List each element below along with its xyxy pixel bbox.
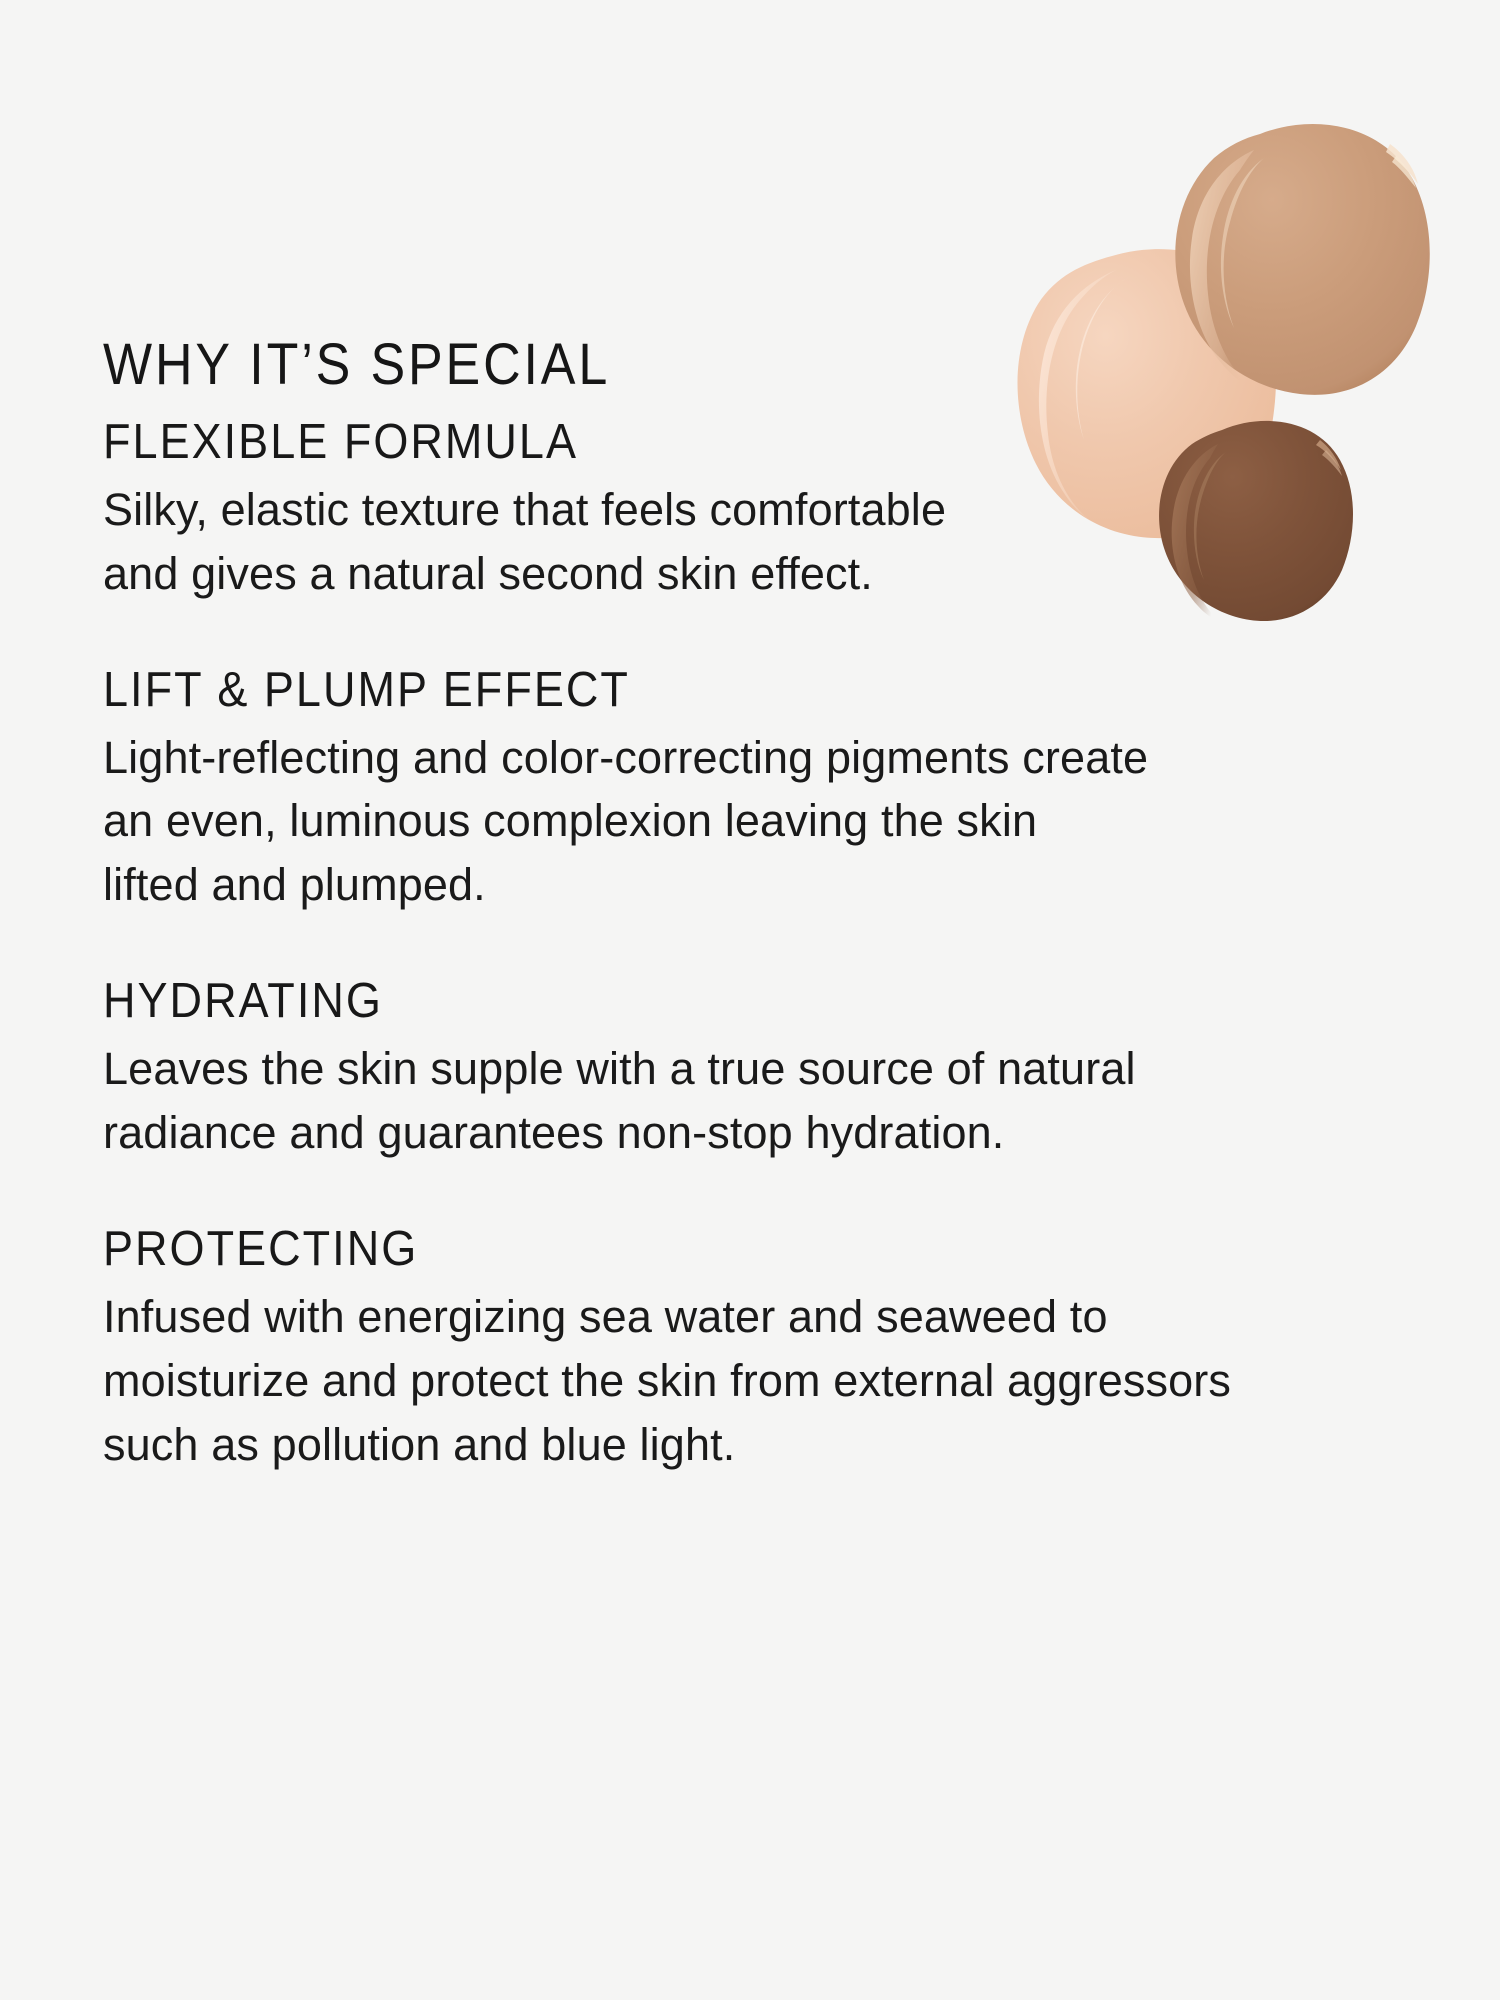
body-line: radiance and guarantees non-stop hydrati… — [103, 1101, 1433, 1165]
section-flexible-formula: FLEXIBLE FORMULA Silky, elastic texture … — [103, 416, 1433, 606]
body-line: such as pollution and blue light. — [103, 1413, 1433, 1477]
body-line: Infused with energizing sea water and se… — [103, 1285, 1433, 1349]
section-body: Infused with energizing sea water and se… — [103, 1285, 1433, 1477]
body-line: moisturize and protect the skin from ext… — [103, 1349, 1433, 1413]
section-body: Leaves the skin supple with a true sourc… — [103, 1037, 1433, 1165]
section-heading: LIFT & PLUMP EFFECT — [103, 664, 1433, 714]
body-line: lifted and plumped. — [103, 853, 1433, 917]
page-title: WHY IT’S SPECIAL — [103, 0, 1433, 394]
body-line: and gives a natural second skin effect. — [103, 542, 1433, 606]
section-body: Light-reflecting and color-correcting pi… — [103, 726, 1433, 918]
section-protecting: PROTECTING Infused with energizing sea w… — [103, 1223, 1433, 1477]
section-heading: PROTECTING — [103, 1223, 1433, 1273]
product-benefits-page: WHY IT’S SPECIAL FLEXIBLE FORMULA Silky,… — [0, 0, 1500, 2000]
body-line: Light-reflecting and color-correcting pi… — [103, 726, 1433, 790]
body-line: an even, luminous complexion leaving the… — [103, 789, 1433, 853]
body-line: Silky, elastic texture that feels comfor… — [103, 478, 1433, 542]
section-hydrating: HYDRATING Leaves the skin supple with a … — [103, 975, 1433, 1165]
section-lift-and-plump-effect: LIFT & PLUMP EFFECT Light-reflecting and… — [103, 664, 1433, 918]
section-heading: FLEXIBLE FORMULA — [103, 416, 1433, 466]
section-body: Silky, elastic texture that feels comfor… — [103, 478, 1433, 606]
content-column: WHY IT’S SPECIAL FLEXIBLE FORMULA Silky,… — [103, 0, 1433, 1476]
section-heading: HYDRATING — [103, 975, 1433, 1025]
body-line: Leaves the skin supple with a true sourc… — [103, 1037, 1433, 1101]
